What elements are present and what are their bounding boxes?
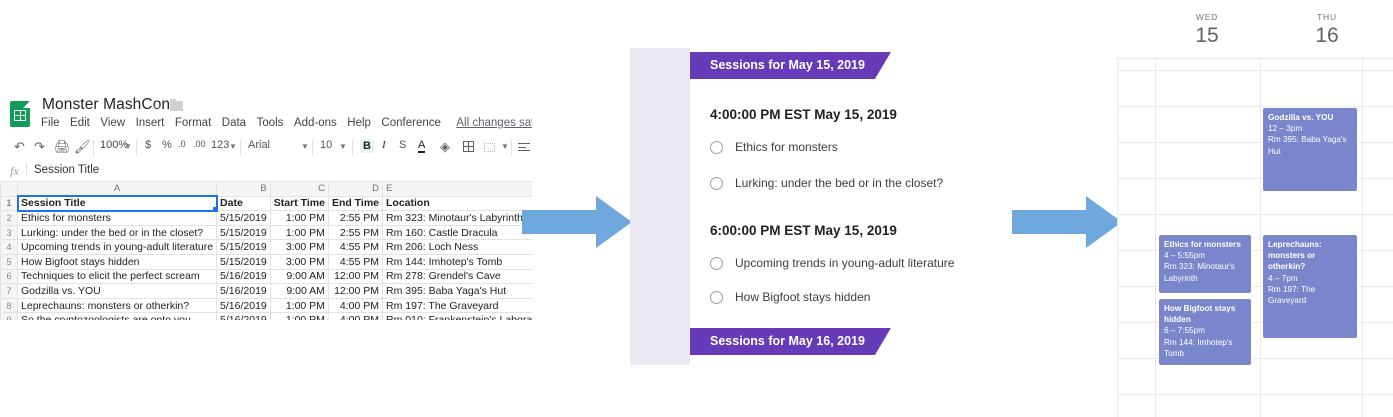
font-size-select[interactable]: 10 (320, 139, 332, 151)
event-title: How Bigfoot stays hidden (1164, 303, 1246, 325)
row-header[interactable]: 6 (1, 269, 18, 284)
merge-cells-icon[interactable] (484, 142, 495, 154)
cell-c8[interactable]: 1:00 PM (270, 298, 328, 313)
cell-d3[interactable]: 2:55 PM (328, 225, 382, 240)
menu-item-format[interactable]: Format (175, 117, 211, 129)
chevron-down-icon[interactable]: ▼ (301, 142, 309, 151)
fx-icon: fx (10, 164, 19, 179)
column-header-row: A B C D E (1, 182, 533, 197)
undo-icon[interactable]: ↶ (14, 139, 25, 155)
table-row: 1 Session Title Date Start Time End Time… (1, 196, 533, 211)
folder-icon[interactable] (170, 101, 183, 111)
sheets-toolbar: ↶ ↷ 🖨 🖌 100% ▼ $ % .0 .00 123 ▼ Arial ▼ … (0, 136, 532, 160)
radio-option-label: Upcoming trends in young-adult literatur… (735, 256, 954, 270)
menu-item-tools[interactable]: Tools (257, 117, 284, 129)
column-header-a[interactable]: A (18, 182, 217, 197)
save-status[interactable]: All changes saved in Drive (456, 117, 532, 129)
cell-c9[interactable]: 1:00 PM (270, 313, 328, 320)
menu-item-insert[interactable]: Insert (136, 117, 165, 129)
increase-decimal-button[interactable]: .00 (193, 139, 206, 149)
cell-c5[interactable]: 3:00 PM (270, 254, 328, 269)
menu-item-view[interactable]: View (100, 117, 125, 129)
more-formats-button[interactable]: 123 (211, 139, 229, 151)
table-row: 5 How Bigfoot stays hidden 5/15/2019 3:0… (1, 254, 533, 269)
table-row: 7 Godzilla vs. YOU 5/16/2019 9:00 AM 12:… (1, 284, 533, 299)
cell-e9[interactable]: Rm 010: Frankenstein's Laboratory (383, 313, 532, 320)
cell-d8[interactable]: 4:00 PM (328, 298, 382, 313)
cell-b5[interactable]: 5/15/2019 (217, 254, 271, 269)
strikethrough-button[interactable]: S (399, 139, 406, 151)
event-time: 6 – 7:55pm (1164, 325, 1246, 336)
menu-item-edit[interactable]: Edit (70, 117, 90, 129)
google-sheets-logo (10, 101, 30, 127)
cell-a1[interactable]: Session Title (18, 196, 217, 211)
menu-item-file[interactable]: File (41, 117, 60, 129)
cell-c6[interactable]: 9:00 AM (270, 269, 328, 284)
radio-option-label: Lurking: under the bed or in the closet? (735, 176, 943, 190)
calendar-day-headers: WED 15 THU 16 (1117, 0, 1393, 58)
cell-a6[interactable]: Techniques to elicit the perfect scream (18, 269, 217, 284)
cell-a5[interactable]: How Bigfoot stays hidden (18, 254, 217, 269)
menu-item-addons[interactable]: Add-ons (294, 117, 337, 129)
event-title: Ethics for monsters (1164, 239, 1246, 250)
cell-b2[interactable]: 5/15/2019 (217, 211, 271, 226)
italic-button[interactable]: I (382, 139, 386, 151)
event-time: 4 – 7pm (1268, 273, 1352, 284)
cell-a2[interactable]: Ethics for monsters (18, 211, 217, 226)
calendar-event-bigfoot[interactable]: How Bigfoot stays hidden 6 – 7:55pm Rm 1… (1158, 298, 1252, 366)
percent-format-button[interactable]: % (162, 139, 172, 151)
google-calendar-panel: WED 15 THU 16 Godzilla vs. YOU 12 – 3pm … (1117, 0, 1393, 417)
time-slot-heading-1: 4:00:00 PM EST May 15, 2019 (710, 107, 897, 122)
radio-icon[interactable] (710, 177, 723, 190)
column-header-e[interactable]: E (383, 182, 532, 197)
cell-d9[interactable]: 4:00 PM (328, 313, 382, 320)
cell-a3[interactable]: Lurking: under the bed or in the closet? (18, 225, 217, 240)
section-banner-may-16: Sessions for May 16, 2019 (690, 328, 891, 355)
borders-icon[interactable] (463, 141, 474, 154)
chevron-down-icon[interactable]: ▼ (339, 142, 347, 151)
cell-d6[interactable]: 12:00 PM (328, 269, 382, 284)
column-header-c[interactable]: C (270, 182, 328, 197)
cell-c7[interactable]: 9:00 AM (270, 284, 328, 299)
cell-a8[interactable]: Leprechauns: monsters or otherkin? (18, 298, 217, 313)
formula-input[interactable]: Session Title (34, 164, 99, 176)
right-arrow-icon (1012, 194, 1122, 250)
day-of-week-label: WED (1159, 12, 1255, 22)
table-row: 8 Leprechauns: monsters or otherkin? 5/1… (1, 298, 533, 313)
print-icon[interactable]: 🖨 (54, 139, 71, 155)
calendar-time-grid[interactable]: Godzilla vs. YOU 12 – 3pm Rm 395: Baba Y… (1117, 58, 1393, 417)
sheets-title-bar: Monster MashCon ☆ FileEditViewInsertForm… (0, 92, 532, 136)
cell-b7[interactable]: 5/16/2019 (217, 284, 271, 299)
cell-d1[interactable]: End Time (328, 196, 382, 211)
menu-item-conference[interactable]: Conference (381, 117, 440, 129)
form-content: Sessions for May 15, 2019 4:00:00 PM EST… (690, 48, 920, 365)
row-header[interactable]: 1 (1, 196, 18, 211)
font-family-select[interactable]: Arial (248, 139, 270, 151)
cell-e2[interactable]: Rm 323: Minotaur's Labyrinth (383, 211, 532, 226)
row-header[interactable]: 3 (1, 225, 18, 240)
cell-e5[interactable]: Rm 144: Imhotep's Tomb (383, 254, 532, 269)
cell-d2[interactable]: 2:55 PM (328, 211, 382, 226)
google-sheets-panel: Monster MashCon ☆ FileEditViewInsertForm… (0, 92, 532, 320)
row-header[interactable]: 5 (1, 254, 18, 269)
radio-option-label: Ethics for monsters (735, 140, 838, 154)
horizontal-align-icon[interactable] (518, 142, 530, 154)
cell-c4[interactable]: 3:00 PM (270, 240, 328, 255)
spreadsheet-grid[interactable]: A B C D E 1 Session Title Date Start Tim… (0, 181, 532, 320)
table-row: 4 Upcoming trends in young-adult literat… (1, 240, 533, 255)
radio-icon[interactable] (710, 257, 723, 270)
row-header[interactable]: 9 (1, 313, 18, 320)
menu-bar: FileEditViewInsertFormatDataToolsAdd-ons… (41, 117, 532, 129)
cell-b3[interactable]: 5/15/2019 (217, 225, 271, 240)
cell-e6[interactable]: Rm 278: Grendel's Cave (383, 269, 532, 284)
radio-icon[interactable] (710, 141, 723, 154)
right-arrow-icon (522, 194, 632, 250)
fill-color-icon[interactable]: ◈ (440, 139, 450, 155)
day-number-label: 16 (1279, 25, 1375, 47)
cell-c1[interactable]: Start Time (270, 196, 328, 211)
redo-icon[interactable]: ↷ (34, 139, 45, 155)
currency-format-button[interactable]: $ (145, 139, 151, 151)
cell-b1[interactable]: Date (217, 196, 271, 211)
table-row: 2 Ethics for monsters 5/15/2019 1:00 PM … (1, 211, 533, 226)
menu-item-data[interactable]: Data (222, 117, 246, 129)
cell-a9[interactable]: So the cryptozoologists are onto you... (18, 313, 217, 320)
chevron-down-icon[interactable]: ▼ (501, 142, 509, 151)
day-header-thu[interactable]: THU 16 (1279, 0, 1375, 47)
table-row: 6 Techniques to elicit the perfect screa… (1, 269, 533, 284)
cell-a7[interactable]: Godzilla vs. YOU (18, 284, 217, 299)
event-location: Rm 197: The Graveyard (1268, 284, 1352, 306)
cell-d7[interactable]: 12:00 PM (328, 284, 382, 299)
event-time: 12 – 3pm (1268, 123, 1352, 134)
radio-icon[interactable] (710, 291, 723, 304)
corner-select-all[interactable] (1, 182, 18, 197)
day-header-wed[interactable]: WED 15 (1159, 0, 1255, 47)
event-location: Rm 323: Minotaur's Labyrinth (1164, 261, 1246, 283)
day-number-label: 15 (1159, 25, 1255, 47)
column-header-b[interactable]: B (217, 182, 271, 197)
chevron-down-icon[interactable]: ▼ (229, 142, 237, 151)
cell-d4[interactable]: 4:55 PM (328, 240, 382, 255)
formula-bar: fx Session Title (0, 160, 532, 182)
cell-b8[interactable]: 5/16/2019 (217, 298, 271, 313)
decrease-decimal-button[interactable]: .0 (178, 139, 186, 149)
cell-e8[interactable]: Rm 197: The Graveyard (383, 298, 532, 313)
page-title[interactable]: Monster MashCon (42, 96, 170, 114)
chevron-down-icon[interactable]: ▼ (124, 142, 132, 151)
menu-item-help[interactable]: Help (347, 117, 371, 129)
row-header[interactable]: 7 (1, 284, 18, 299)
google-form-panel: Sessions for May 15, 2019 4:00:00 PM EST… (630, 48, 920, 365)
cell-a4[interactable]: Upcoming trends in young-adult literatur… (18, 240, 217, 255)
paint-format-icon[interactable]: 🖌 (74, 139, 91, 155)
event-time: 4 – 5:55pm (1164, 250, 1246, 261)
day-of-week-label: THU (1279, 12, 1375, 22)
cell-e1[interactable]: Location (383, 196, 532, 211)
column-header-d[interactable]: D (328, 182, 382, 197)
cell-b9[interactable]: 5/16/2019 (217, 313, 271, 320)
radio-option-label: How Bigfoot stays hidden (735, 290, 870, 304)
row-header[interactable]: 8 (1, 298, 18, 313)
cell-e7[interactable]: Rm 395: Baba Yaga's Hut (383, 284, 532, 299)
cell-e4[interactable]: Rm 206: Loch Ness (383, 240, 532, 255)
calendar-event-ethics[interactable]: Ethics for monsters 4 – 5:55pm Rm 323: M… (1158, 234, 1252, 294)
cell-d5[interactable]: 4:55 PM (328, 254, 382, 269)
event-location: Rm 395: Baba Yaga's Hut (1268, 134, 1352, 156)
cell-c2[interactable]: 1:00 PM (270, 211, 328, 226)
event-title: Leprechauns: monsters or otherkin? (1268, 239, 1352, 273)
row-header[interactable]: 4 (1, 240, 18, 255)
cell-e3[interactable]: Rm 160: Castle Dracula (383, 225, 532, 240)
cell-b6[interactable]: 5/16/2019 (217, 269, 271, 284)
cell-b4[interactable]: 5/15/2019 (217, 240, 271, 255)
cell-c3[interactable]: 1:00 PM (270, 225, 328, 240)
time-slot-heading-2: 6:00:00 PM EST May 15, 2019 (710, 223, 897, 238)
section-banner-may-15: Sessions for May 15, 2019 (690, 52, 891, 79)
text-color-button[interactable]: A (418, 139, 425, 153)
bold-button[interactable]: B (360, 139, 374, 153)
event-location: Rm 144: Imhotep's Tomb (1164, 337, 1246, 359)
row-header[interactable]: 2 (1, 211, 18, 226)
event-title: Godzilla vs. YOU (1268, 112, 1352, 123)
table-row: 3 Lurking: under the bed or in the close… (1, 225, 533, 240)
table-row: 9 So the cryptozoologists are onto you..… (1, 313, 533, 320)
star-icon[interactable]: ☆ (152, 101, 162, 114)
calendar-event-leprechauns[interactable]: Leprechauns: monsters or otherkin? 4 – 7… (1262, 234, 1358, 339)
calendar-event-godzilla[interactable]: Godzilla vs. YOU 12 – 3pm Rm 395: Baba Y… (1262, 107, 1358, 192)
